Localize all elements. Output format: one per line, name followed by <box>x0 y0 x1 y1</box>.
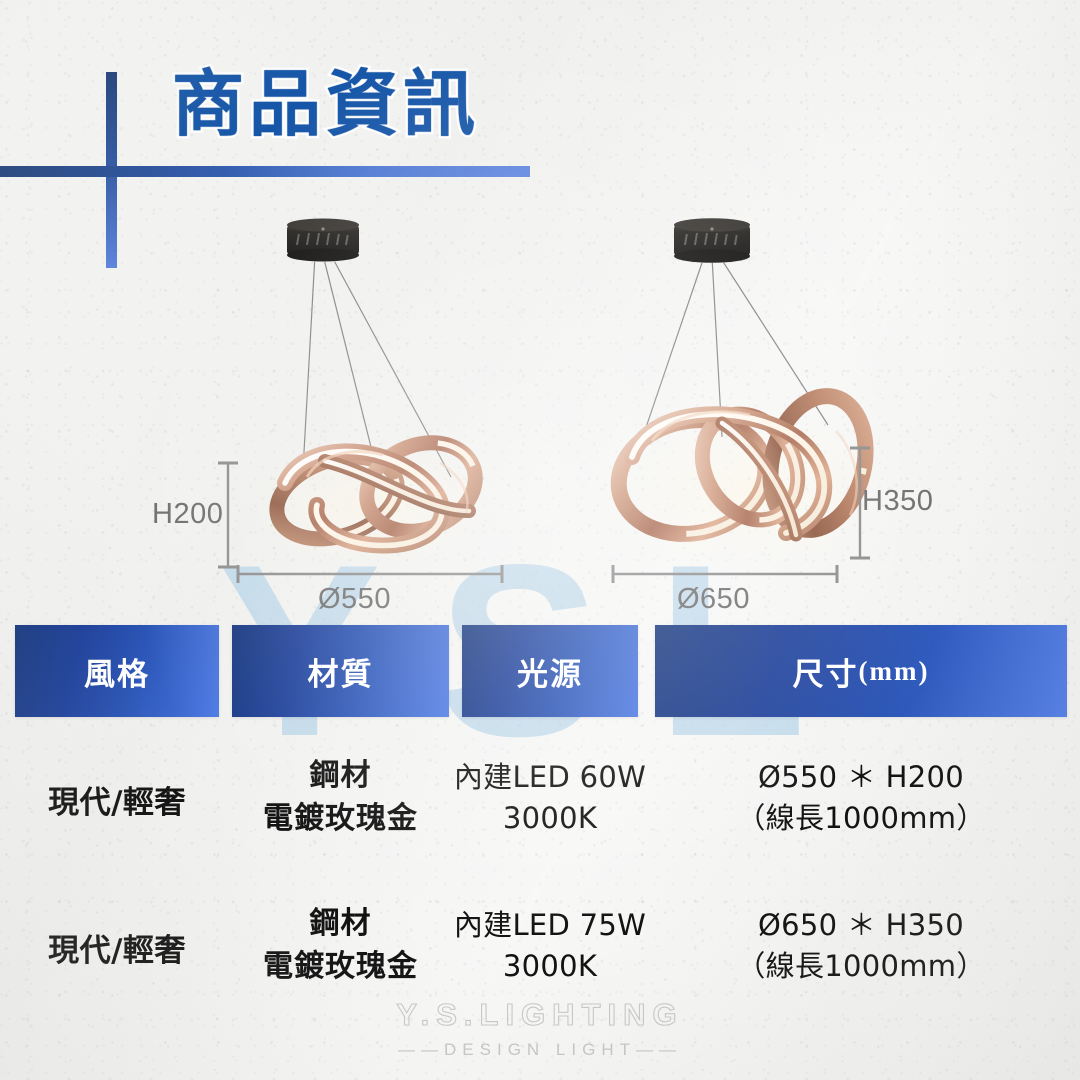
cell-light-source: 內建LED 60W 3000K <box>452 757 648 839</box>
dimension-label-height-550: H200 <box>152 498 223 531</box>
footer-logo: Y.S.LIGHTING ——DESIGN LIGHT—— <box>0 998 1080 1060</box>
dimension-label-diameter-650: Ø650 <box>677 583 750 616</box>
cell-size-line1: Ø650 ＊ H350 <box>655 905 1067 946</box>
table-header-size-unit: (mm) <box>859 656 930 687</box>
cell-material-line1: 鋼材 <box>232 755 449 798</box>
product-image-pendant-550 <box>225 215 525 595</box>
cell-material: 鋼材 電鍍玫瑰金 <box>232 755 449 840</box>
cell-light-source-line1: 內建LED 75W <box>452 905 648 946</box>
cell-style: 現代/輕奢 <box>15 929 219 973</box>
footer-tagline: ——DESIGN LIGHT—— <box>0 1040 1080 1060</box>
cell-light-source-line2: 3000K <box>452 946 648 987</box>
table-header-light-source-label: 光源 <box>517 649 583 694</box>
table-row: 現代/輕奢 鋼材 電鍍玫瑰金 內建LED 60W 3000K Ø550 ＊ H2… <box>0 755 1080 865</box>
table-header-size: 尺寸(mm) <box>655 625 1067 717</box>
spec-table-header: 風格 材質 光源 尺寸(mm) <box>0 625 1080 720</box>
page-title: 商品資訊 <box>172 64 480 145</box>
cell-material-line2: 電鍍玫瑰金 <box>232 946 449 989</box>
cell-material-line1: 鋼材 <box>232 903 449 946</box>
table-header-material: 材質 <box>232 625 449 717</box>
cell-material-line2: 電鍍玫瑰金 <box>232 798 449 841</box>
table-header-style-label: 風格 <box>84 649 150 694</box>
cell-size: Ø650 ＊ H350 （線長1000mm） <box>655 905 1067 987</box>
cell-light-source: 內建LED 75W 3000K <box>452 905 648 987</box>
product-info-poster: YSL 商品資訊 <box>0 0 1080 1080</box>
table-header-material-label: 材質 <box>308 649 374 694</box>
dimension-label-height-650: H350 <box>862 485 933 518</box>
dimension-label-diameter-550: Ø550 <box>318 583 391 616</box>
cell-style: 現代/輕奢 <box>15 781 219 825</box>
cell-size-line1: Ø550 ＊ H200 <box>655 757 1067 798</box>
table-header-size-label: 尺寸 <box>793 649 859 694</box>
cell-size-line2: （線長1000mm） <box>655 946 1067 987</box>
cell-size: Ø550 ＊ H200 （線長1000mm） <box>655 757 1067 839</box>
cell-light-source-line2: 3000K <box>452 798 648 839</box>
cell-light-source-line1: 內建LED 60W <box>452 757 648 798</box>
header-accent-horizontal-bar <box>0 166 530 177</box>
cell-size-line2: （線長1000mm） <box>655 798 1067 839</box>
table-header-light-source: 光源 <box>462 625 638 717</box>
table-header-style: 風格 <box>15 625 219 717</box>
cell-material: 鋼材 電鍍玫瑰金 <box>232 903 449 988</box>
footer-brand-name: Y.S.LIGHTING <box>0 998 1080 1032</box>
